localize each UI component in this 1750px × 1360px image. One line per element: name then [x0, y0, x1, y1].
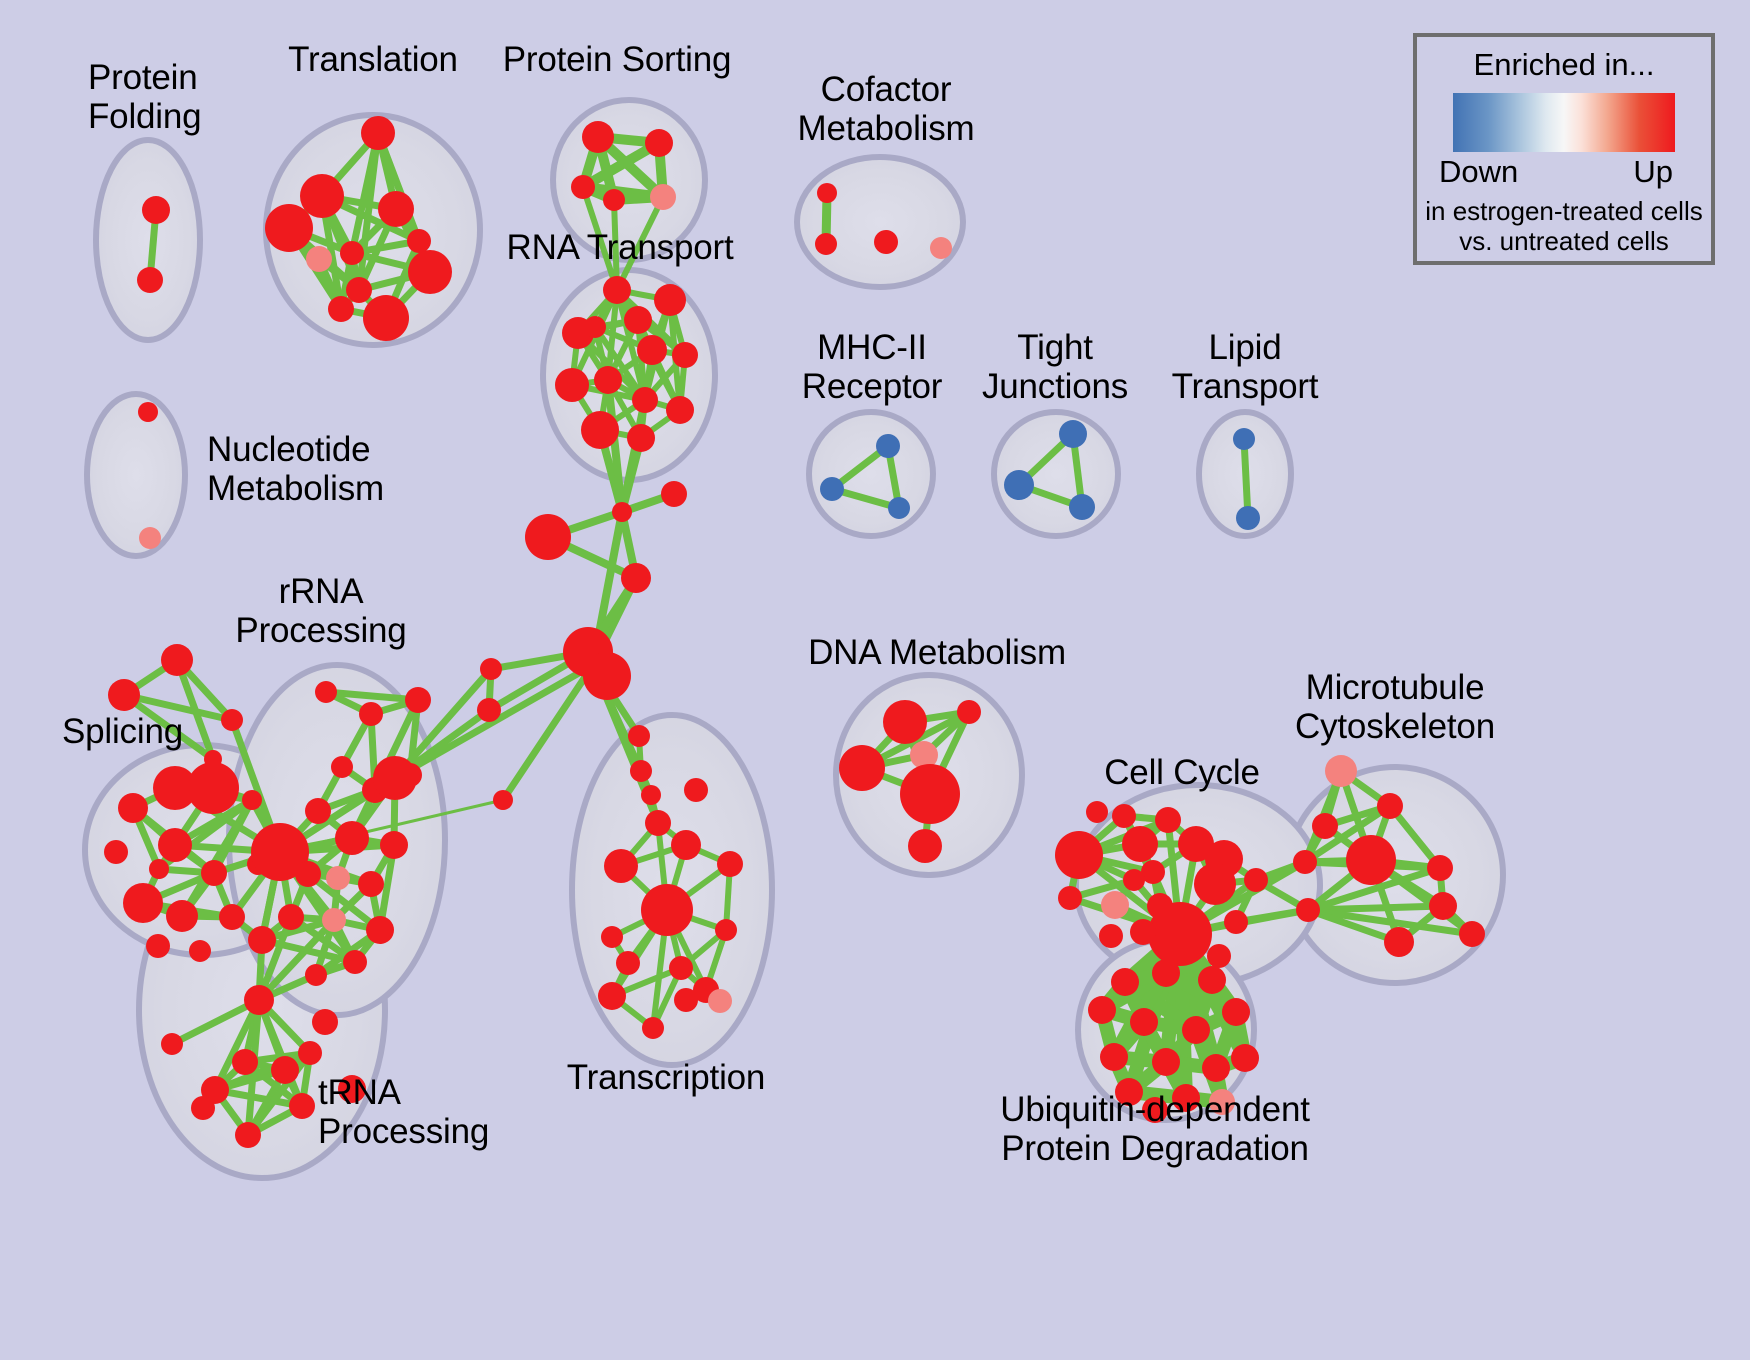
node: [815, 233, 837, 255]
node: [1088, 996, 1116, 1024]
node: [1296, 898, 1320, 922]
node: [380, 831, 408, 859]
legend-low-label: Down: [1439, 154, 1518, 190]
node: [1224, 910, 1248, 934]
cluster-ellipse-nucleotide: [87, 394, 185, 556]
node: [650, 184, 676, 210]
node: [166, 900, 198, 932]
node: [630, 760, 652, 782]
legend-box: Enriched in... Down Up in estrogen-treat…: [1413, 33, 1715, 265]
node: [1236, 506, 1260, 530]
node: [146, 934, 170, 958]
node: [525, 514, 571, 560]
node: [480, 658, 502, 680]
node: [1231, 1044, 1259, 1072]
node: [1427, 855, 1453, 881]
node: [137, 267, 163, 293]
node: [839, 745, 885, 791]
node: [672, 342, 698, 368]
node: [361, 116, 395, 150]
node: [235, 1122, 261, 1148]
node: [1152, 1048, 1180, 1076]
node: [1142, 1097, 1168, 1123]
node: [642, 1017, 664, 1039]
node: [632, 387, 658, 413]
node: [888, 497, 910, 519]
node: [555, 368, 589, 402]
node: [378, 191, 414, 227]
node: [641, 785, 661, 805]
node: [601, 926, 623, 948]
node: [331, 756, 353, 778]
node: [627, 424, 655, 452]
node: [118, 793, 148, 823]
node: [1058, 886, 1082, 910]
node: [583, 652, 631, 700]
node: [158, 828, 192, 862]
node: [477, 698, 501, 722]
node: [684, 778, 708, 802]
node: [265, 204, 313, 252]
node: [1130, 1008, 1158, 1036]
legend-caption-line-2: vs. untreated cells: [1417, 226, 1711, 256]
node: [1172, 1084, 1200, 1112]
node: [340, 241, 364, 265]
node: [1155, 807, 1181, 833]
legend-high-label: Up: [1633, 154, 1673, 190]
enrichment-map-figure: Protein Folding Translation Protein Sort…: [0, 0, 1750, 1360]
node: [278, 904, 304, 930]
node: [161, 644, 193, 676]
node: [201, 860, 227, 886]
node: [641, 884, 693, 936]
node: [305, 964, 327, 986]
node: [603, 189, 625, 211]
node: [306, 246, 332, 272]
cluster-ellipse-group: [85, 100, 1503, 1178]
node: [298, 1041, 322, 1065]
cluster-ellipse-cofactor: [797, 157, 963, 287]
node: [271, 1056, 299, 1084]
node: [612, 502, 632, 522]
node: [1384, 927, 1414, 957]
node: [628, 725, 650, 747]
node: [1055, 831, 1103, 879]
node: [671, 830, 701, 860]
node: [624, 306, 652, 334]
node: [1059, 420, 1087, 448]
node: [407, 229, 431, 253]
node: [571, 175, 595, 199]
node: [930, 237, 952, 259]
node: [221, 709, 243, 731]
node: [373, 756, 417, 800]
node: [1312, 813, 1338, 839]
node: [908, 829, 942, 863]
legend-caption-line-1: in estrogen-treated cells: [1417, 196, 1711, 226]
node: [326, 866, 350, 890]
node: [363, 295, 409, 341]
node: [1346, 835, 1396, 885]
node: [708, 989, 732, 1013]
node: [603, 276, 631, 304]
node: [1182, 1016, 1210, 1044]
node: [1233, 428, 1255, 450]
node: [149, 859, 169, 879]
node: [1209, 1089, 1235, 1115]
node: [305, 798, 331, 824]
node: [322, 908, 346, 932]
node: [817, 183, 837, 203]
node: [343, 950, 367, 974]
legend-endpoint-labels: Down Up: [1417, 154, 1711, 194]
node: [405, 687, 431, 713]
node: [295, 861, 321, 887]
node: [242, 790, 262, 810]
legend-color-gradient-bar: [1453, 93, 1675, 152]
node: [244, 985, 274, 1015]
node: [598, 982, 626, 1010]
node: [1004, 470, 1034, 500]
node: [108, 679, 140, 711]
node: [874, 230, 898, 254]
node: [408, 250, 452, 294]
node: [1202, 1054, 1230, 1082]
node: [219, 904, 245, 930]
node: [335, 821, 369, 855]
node: [645, 810, 671, 836]
node: [1111, 968, 1139, 996]
node: [1112, 804, 1136, 828]
node: [1099, 924, 1123, 948]
node: [1198, 966, 1226, 994]
node: [669, 956, 693, 980]
node: [289, 1093, 315, 1119]
node: [582, 121, 614, 153]
node: [1222, 998, 1250, 1026]
legend-title: Enriched in...: [1417, 47, 1711, 83]
node: [1115, 1078, 1143, 1106]
node: [717, 851, 743, 877]
node: [1325, 755, 1357, 787]
node: [604, 849, 638, 883]
node: [189, 940, 211, 962]
node: [1100, 1043, 1128, 1071]
node: [1207, 944, 1231, 968]
node: [312, 1009, 338, 1035]
node: [328, 296, 354, 322]
node: [654, 284, 686, 316]
node: [957, 700, 981, 724]
node: [315, 681, 337, 703]
node: [104, 840, 128, 864]
node: [366, 916, 394, 944]
node: [616, 951, 640, 975]
node: [820, 477, 844, 501]
node: [187, 762, 239, 814]
node: [232, 1049, 258, 1075]
node: [1377, 793, 1403, 819]
node: [1122, 826, 1158, 862]
node: [645, 129, 673, 157]
node: [142, 196, 170, 224]
node: [358, 871, 384, 897]
node: [900, 764, 960, 824]
node: [584, 316, 606, 338]
node: [1101, 891, 1129, 919]
node: [138, 402, 158, 422]
node: [1194, 863, 1236, 905]
node: [1069, 494, 1095, 520]
node: [338, 1075, 366, 1103]
node: [674, 988, 698, 1012]
node: [666, 396, 694, 424]
node: [139, 527, 161, 549]
node: [1130, 919, 1156, 945]
node: [346, 277, 372, 303]
node: [1293, 850, 1317, 874]
node: [594, 366, 622, 394]
node: [715, 919, 737, 941]
node: [883, 700, 927, 744]
node: [191, 1096, 215, 1120]
node: [1123, 869, 1145, 891]
node: [1244, 868, 1268, 892]
node: [1152, 959, 1180, 987]
node: [1148, 902, 1212, 966]
node: [1429, 892, 1457, 920]
node: [876, 434, 900, 458]
cluster-ellipse-mhc-ii: [809, 412, 933, 536]
node: [1459, 921, 1485, 947]
node: [248, 926, 276, 954]
node: [637, 335, 667, 365]
node: [300, 174, 344, 218]
node: [493, 790, 513, 810]
node: [1086, 801, 1108, 823]
node: [581, 411, 619, 449]
node: [161, 1033, 183, 1055]
node: [661, 481, 687, 507]
node: [621, 563, 651, 593]
node: [123, 883, 163, 923]
node: [359, 702, 383, 726]
cluster-ellipse-protein-folding: [96, 140, 200, 340]
